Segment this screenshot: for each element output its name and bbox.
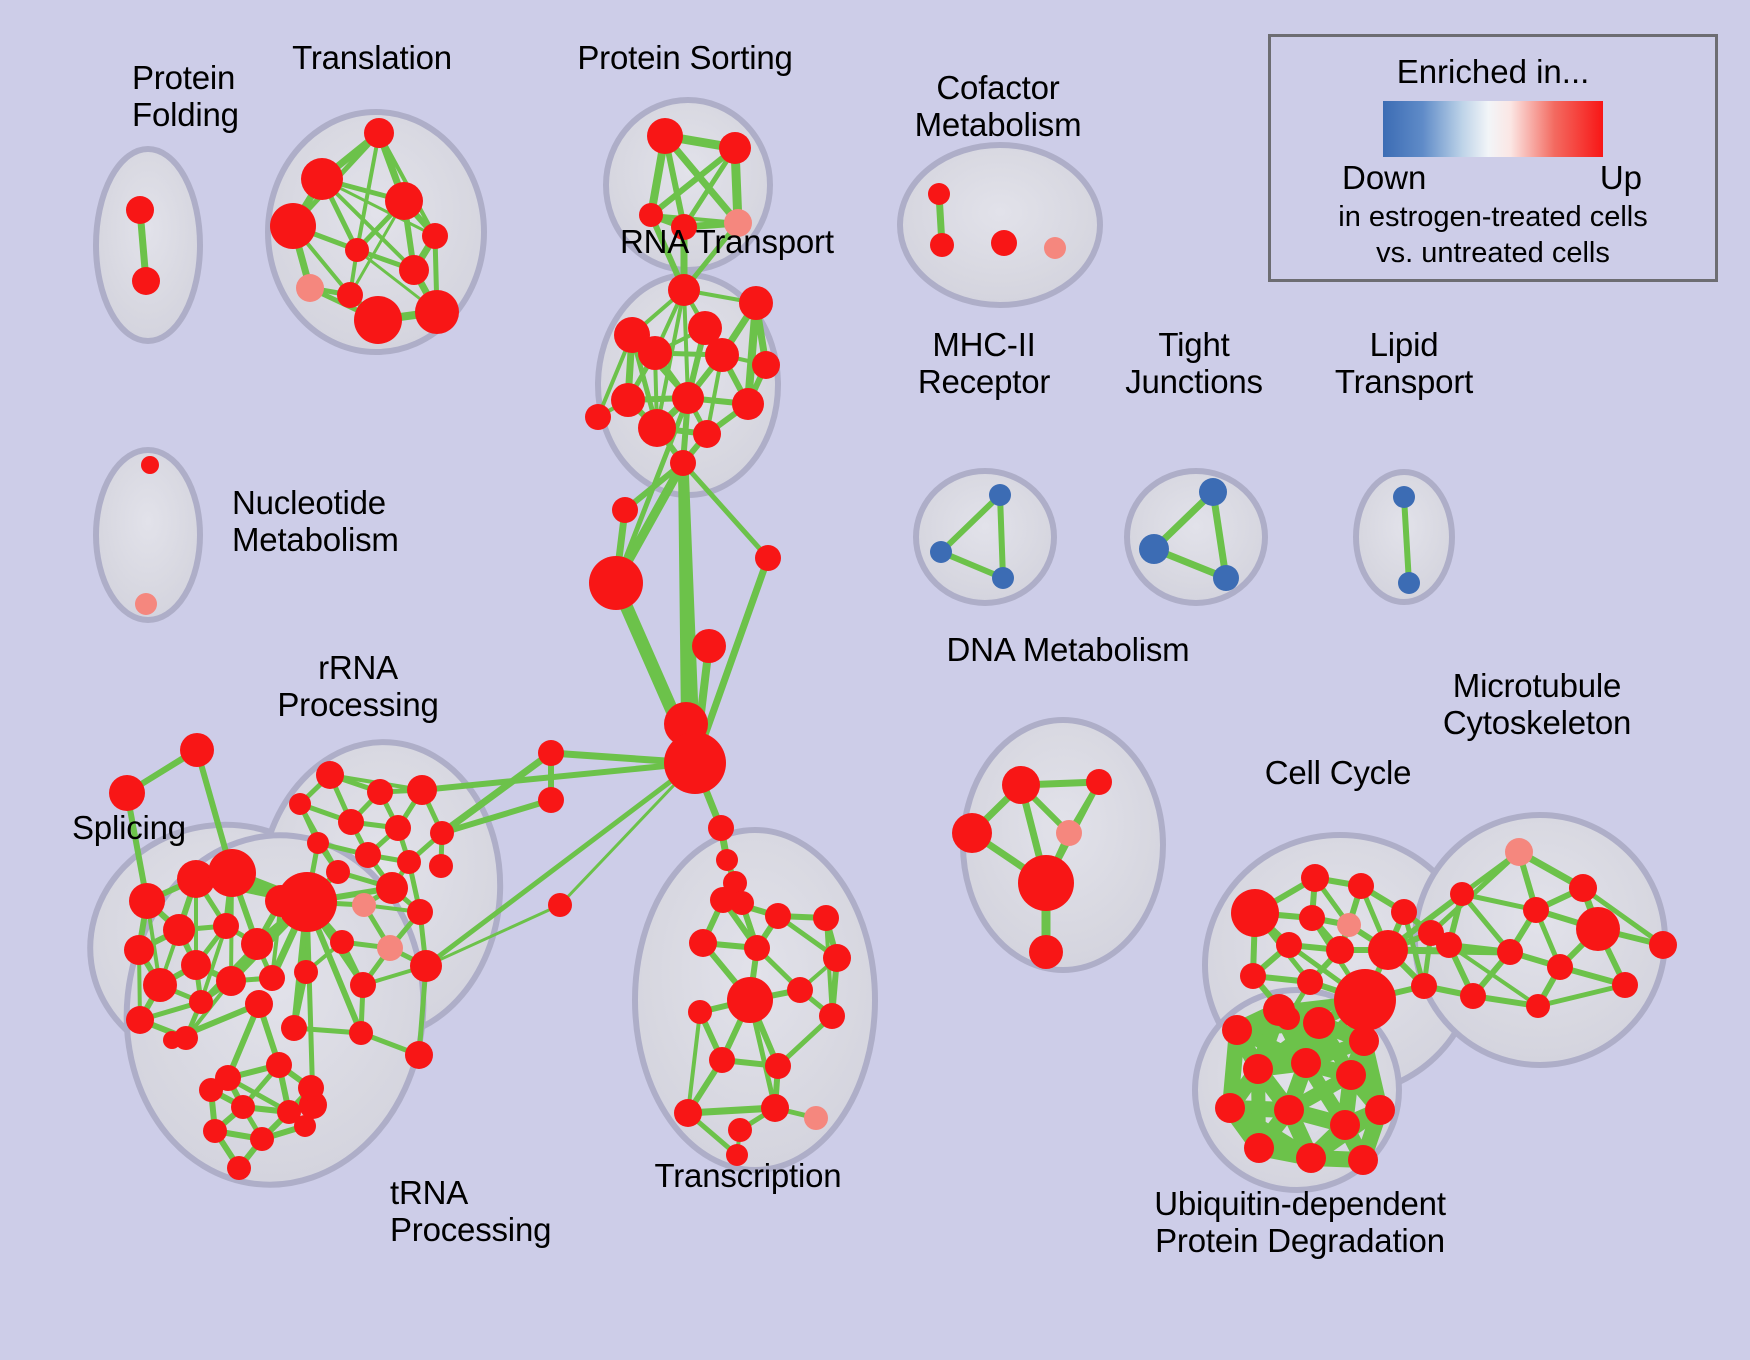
cluster-label-cofactor-metabolism: Cofactor Metabolism [915, 70, 1082, 144]
network-node[interactable] [728, 1118, 752, 1142]
network-node[interactable] [296, 274, 324, 302]
network-node[interactable] [930, 233, 954, 257]
network-node[interactable] [638, 409, 676, 447]
network-node[interactable] [337, 282, 363, 308]
network-node[interactable] [181, 950, 211, 980]
network-node[interactable] [397, 850, 421, 874]
network-node[interactable] [1526, 994, 1550, 1018]
cluster-label-lipid-transport: Lipid Transport [1335, 327, 1473, 401]
network-node[interactable] [1276, 932, 1302, 958]
network-node[interactable] [266, 1052, 292, 1078]
legend-caption-line2: vs. untreated cells [1271, 237, 1715, 271]
network-node[interactable] [1337, 913, 1361, 937]
network-node[interactable] [1199, 478, 1227, 506]
network-node[interactable] [270, 203, 316, 249]
network-node[interactable] [180, 733, 214, 767]
network-node[interactable] [739, 286, 773, 320]
network-node[interactable] [1330, 1110, 1360, 1140]
network-node[interactable] [430, 821, 454, 845]
network-node[interactable] [407, 899, 433, 925]
network-node[interactable] [752, 351, 780, 379]
network-node[interactable] [301, 158, 343, 200]
cluster-label-transcription: Transcription [655, 1158, 842, 1195]
network-node[interactable] [350, 972, 376, 998]
network-node[interactable] [1336, 1060, 1366, 1090]
network-node[interactable] [1291, 1048, 1321, 1078]
inter-cluster-edge [683, 463, 686, 724]
network-node[interactable] [538, 740, 564, 766]
network-node[interactable] [1303, 1007, 1335, 1039]
network-node[interactable] [1213, 565, 1239, 591]
network-node[interactable] [1297, 969, 1323, 995]
network-node[interactable] [1296, 1143, 1326, 1173]
cluster-label-protein-sorting: Protein Sorting [577, 40, 792, 77]
network-node[interactable] [692, 629, 726, 663]
network-node[interactable] [1505, 838, 1533, 866]
network-node[interactable] [1326, 936, 1354, 964]
network-node[interactable] [216, 966, 246, 996]
network-node[interactable] [429, 854, 453, 878]
cluster-label-rrna-processing: rRNA Processing [277, 650, 438, 724]
network-node[interactable] [709, 1047, 735, 1073]
network-node[interactable] [1348, 1145, 1378, 1175]
network-node[interactable] [208, 849, 256, 897]
network-node[interactable] [719, 132, 751, 164]
network-node[interactable] [1393, 486, 1415, 508]
cluster-hull-cofactor-metabolism[interactable] [900, 145, 1100, 305]
network-node[interactable] [1576, 907, 1620, 951]
network-node[interactable] [141, 456, 159, 474]
cluster-label-nucleotide-metabolism: Nucleotide Metabolism [232, 485, 399, 559]
network-node[interactable] [693, 420, 721, 448]
network-node[interactable] [804, 1106, 828, 1130]
network-node[interactable] [647, 118, 683, 154]
network-node[interactable] [422, 223, 448, 249]
network-node[interactable] [1368, 930, 1408, 970]
network-node[interactable] [674, 1099, 702, 1127]
network-node[interactable] [415, 290, 459, 334]
network-node[interactable] [664, 732, 726, 794]
network-node[interactable] [585, 404, 611, 430]
network-node[interactable] [1215, 1093, 1245, 1123]
cluster-label-dna-metabolism: DNA Metabolism [947, 632, 1190, 669]
network-node[interactable] [1222, 1015, 1252, 1045]
network-node[interactable] [992, 567, 1014, 589]
network-node[interactable] [1569, 874, 1597, 902]
network-node[interactable] [109, 775, 145, 811]
network-node[interactable] [755, 545, 781, 571]
network-node[interactable] [227, 1156, 251, 1180]
network-node[interactable] [410, 950, 442, 982]
cluster-label-translation: Translation [292, 40, 452, 77]
network-node[interactable] [928, 183, 950, 205]
network-node[interactable] [612, 497, 638, 523]
network-node[interactable] [307, 832, 329, 854]
network-node[interactable] [744, 935, 770, 961]
network-node[interactable] [708, 815, 734, 841]
network-node[interactable] [199, 1078, 223, 1102]
network-node[interactable] [126, 196, 154, 224]
network-node[interactable] [1612, 972, 1638, 998]
network-node[interactable] [316, 761, 344, 789]
legend-low-label: Down [1342, 159, 1426, 197]
cluster-label-tight-junctions: Tight Junctions [1125, 327, 1263, 401]
network-node[interactable] [1301, 864, 1329, 892]
network-node[interactable] [710, 887, 736, 913]
network-node[interactable] [399, 255, 429, 285]
network-node[interactable] [1398, 572, 1420, 594]
network-node[interactable] [132, 267, 160, 295]
network-node[interactable] [638, 336, 672, 370]
network-node[interactable] [727, 977, 773, 1023]
network-node[interactable] [952, 813, 992, 853]
network-node[interactable] [1086, 769, 1112, 795]
legend-high-label: Up [1600, 159, 1642, 197]
network-node[interactable] [250, 1127, 274, 1151]
network-node[interactable] [259, 965, 285, 991]
network-node[interactable] [367, 779, 393, 805]
legend-caption-line1: in estrogen-treated cells [1271, 201, 1715, 235]
network-node[interactable] [991, 230, 1017, 256]
network-node[interactable] [1243, 1054, 1273, 1084]
network-node[interactable] [670, 450, 696, 476]
network-node[interactable] [765, 1053, 791, 1079]
network-node[interactable] [376, 872, 408, 904]
network-node[interactable] [298, 1075, 324, 1101]
network-node[interactable] [1334, 969, 1396, 1031]
network-node[interactable] [1649, 931, 1677, 959]
network-node[interactable] [1436, 932, 1462, 958]
legend-color-gradient-bar [1383, 101, 1603, 157]
network-node[interactable] [989, 484, 1011, 506]
network-node[interactable] [823, 944, 851, 972]
network-node[interactable] [548, 893, 572, 917]
network-node[interactable] [1231, 889, 1279, 937]
cluster-label-microtubule-cytoskeleton: Microtubule Cytoskeleton [1443, 668, 1631, 742]
network-node[interactable] [930, 541, 952, 563]
network-node[interactable] [787, 977, 813, 1003]
network-node[interactable] [349, 1021, 373, 1045]
network-node[interactable] [1497, 939, 1523, 965]
network-node[interactable] [1365, 1095, 1395, 1125]
network-node[interactable] [405, 1041, 433, 1069]
network-node[interactable] [203, 1119, 227, 1143]
network-node[interactable] [1002, 766, 1040, 804]
network-node[interactable] [135, 593, 157, 615]
network-node[interactable] [213, 913, 239, 939]
legend-box: Enriched in... Down Up in estrogen-treat… [1268, 34, 1718, 282]
network-node[interactable] [672, 382, 704, 414]
network-node[interactable] [1244, 1133, 1274, 1163]
cluster-label-rna-transport: RNA Transport [620, 224, 834, 261]
network-node[interactable] [143, 968, 177, 1002]
network-node[interactable] [352, 893, 376, 917]
network-node[interactable] [231, 1095, 255, 1119]
network-node[interactable] [1411, 973, 1437, 999]
network-node[interactable] [1240, 963, 1266, 989]
network-node[interactable] [761, 1094, 789, 1122]
network-node[interactable] [289, 793, 311, 815]
network-node[interactable] [1450, 882, 1474, 906]
network-node[interactable] [813, 905, 839, 931]
network-node[interactable] [129, 883, 165, 919]
network-node[interactable] [688, 1000, 712, 1024]
network-node[interactable] [1349, 1026, 1379, 1056]
network-node[interactable] [163, 914, 195, 946]
network-node[interactable] [732, 388, 764, 420]
network-node[interactable] [1523, 897, 1549, 923]
network-node[interactable] [354, 296, 402, 344]
cluster-label-ubiquitin-degradation: Ubiquitin-dependent Protein Degradation [1154, 1186, 1446, 1260]
network-node[interactable] [338, 809, 364, 835]
network-node[interactable] [294, 1115, 316, 1137]
network-node[interactable] [189, 990, 213, 1014]
cluster-hull-mhc-ii-receptor[interactable] [916, 471, 1054, 603]
network-node[interactable] [326, 860, 350, 884]
enrichment-network-figure: Protein FoldingTranslationProtein Sortin… [0, 0, 1750, 1360]
cluster-label-trna-processing: tRNA Processing [390, 1175, 551, 1249]
network-node[interactable] [819, 1003, 845, 1029]
network-node[interactable] [1044, 237, 1066, 259]
network-node[interactable] [124, 935, 154, 965]
network-node[interactable] [1299, 905, 1325, 931]
network-node[interactable] [689, 929, 717, 957]
network-node[interactable] [377, 935, 403, 961]
network-node[interactable] [765, 903, 791, 929]
network-node[interactable] [407, 775, 437, 805]
network-node[interactable] [1056, 820, 1082, 846]
network-node[interactable] [1348, 873, 1374, 899]
cluster-label-cell-cycle: Cell Cycle [1265, 755, 1412, 792]
network-node[interactable] [281, 1015, 307, 1041]
network-node[interactable] [163, 1031, 181, 1049]
cluster-label-splicing: Splicing [72, 810, 186, 847]
network-node[interactable] [241, 928, 273, 960]
network-node[interactable] [1274, 1095, 1304, 1125]
network-node[interactable] [1029, 935, 1063, 969]
network-node[interactable] [277, 872, 337, 932]
network-node[interactable] [716, 849, 738, 871]
network-node[interactable] [385, 182, 423, 220]
network-node[interactable] [1263, 994, 1295, 1026]
network-node[interactable] [538, 787, 564, 813]
network-edge [1000, 495, 1003, 578]
legend-endpoints: Down Up [1348, 159, 1638, 199]
cluster-label-mhc-ii-receptor: MHC-II Receptor [918, 327, 1050, 401]
network-node[interactable] [355, 842, 381, 868]
network-node[interactable] [1547, 954, 1573, 980]
network-node[interactable] [1018, 855, 1074, 911]
network-node[interactable] [611, 383, 645, 417]
network-node[interactable] [1391, 899, 1417, 925]
network-node[interactable] [330, 930, 354, 954]
legend-title: Enriched in... [1271, 53, 1715, 91]
network-node[interactable] [668, 274, 700, 306]
cluster-label-protein-folding: Protein Folding [132, 60, 239, 134]
network-node[interactable] [345, 238, 369, 262]
network-node[interactable] [1139, 534, 1169, 564]
network-node[interactable] [589, 556, 643, 610]
network-node[interactable] [245, 990, 273, 1018]
network-node[interactable] [364, 118, 394, 148]
network-node[interactable] [385, 815, 411, 841]
cluster-hull-protein-folding[interactable] [96, 149, 200, 341]
network-node[interactable] [1460, 983, 1486, 1009]
network-node[interactable] [705, 338, 739, 372]
network-node[interactable] [126, 1006, 154, 1034]
network-node[interactable] [294, 960, 318, 984]
